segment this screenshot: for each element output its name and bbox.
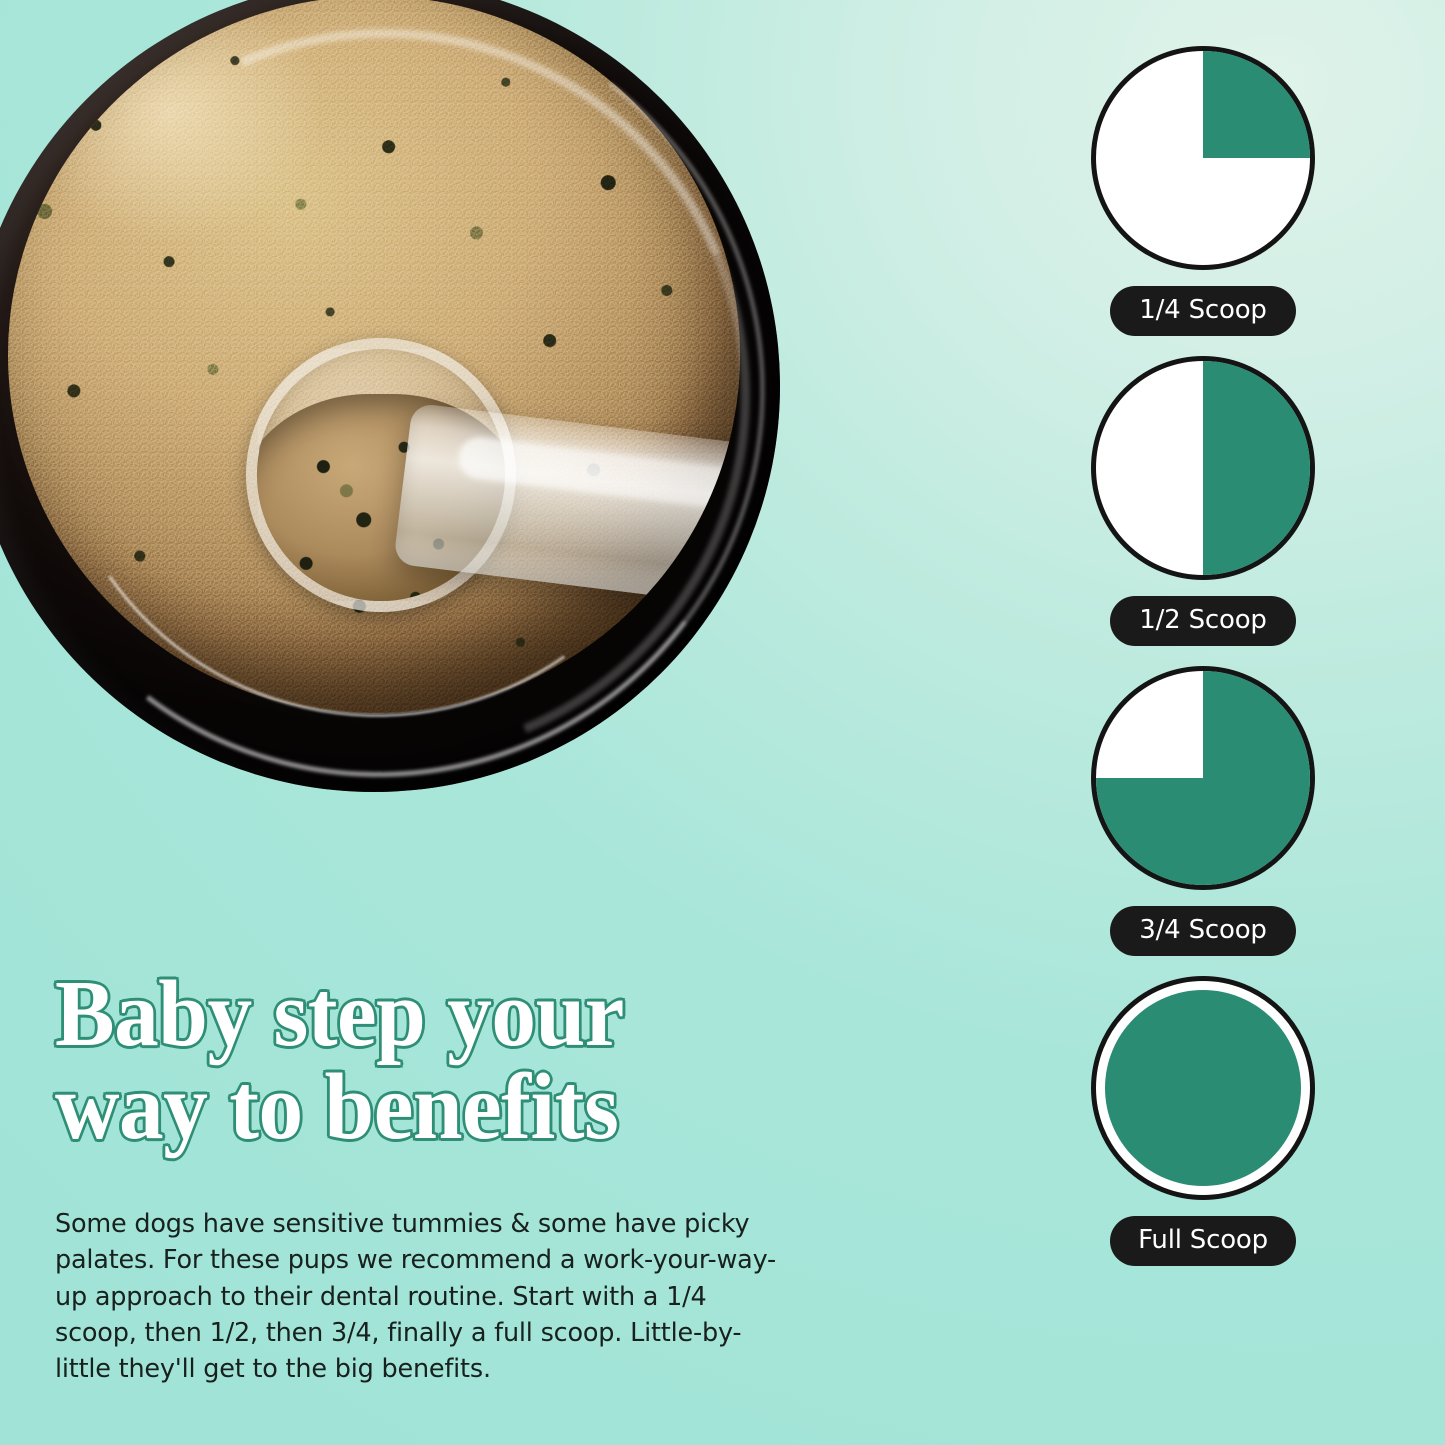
body-paragraph: Some dogs have sensitive tummies & some … [55, 1206, 795, 1387]
three-quarter-dial-icon [1091, 666, 1315, 890]
status-badge-quarter-scoop: 1/4 Scoop [1110, 286, 1296, 336]
quarter-dial-icon [1091, 46, 1315, 270]
legend-item-full-scoop: Full Scoop [1078, 976, 1328, 1266]
status-badge-half-scoop: 1/2 Scoop [1110, 596, 1296, 646]
dial-quadrant-top-right [1203, 361, 1310, 468]
dial-quadrant-bottom-left [1096, 778, 1203, 885]
dial-quadrant-bottom-right [1203, 778, 1310, 885]
product-photo [0, 0, 890, 860]
dial-quadrant-top-right [1203, 51, 1310, 158]
legend-item-three-quarter-scoop: 3/4 Scoop [1078, 666, 1328, 956]
dial-quadrant-top-right [1203, 671, 1310, 778]
legend-item-half-scoop: 1/2 Scoop [1078, 356, 1328, 646]
half-dial-icon [1091, 356, 1315, 580]
dial-quadrant-bottom-right [1203, 468, 1310, 575]
legend-item-quarter-scoop: 1/4 Scoop [1078, 46, 1328, 336]
status-badge-three-quarter-scoop: 3/4 Scoop [1110, 906, 1296, 956]
headline-line-2: way to benefits [55, 1061, 806, 1154]
headline-line-1: Baby step your [55, 968, 806, 1061]
powder-jar [0, 0, 780, 792]
dial-inner-disc [1105, 990, 1301, 1186]
full-dial-icon [1091, 976, 1315, 1200]
page-title: Baby step your way to benefits [55, 968, 806, 1154]
scoop-legend: 1/4 Scoop 1/2 Scoop 3/4 Scoop Full Sco [1078, 46, 1328, 1286]
status-badge-full-scoop: Full Scoop [1110, 1216, 1296, 1266]
scoop-dosage-infographic: Baby step your way to benefits Some dogs… [0, 0, 1445, 1445]
copy-block: Baby step your way to benefits Some dogs… [55, 968, 845, 1387]
